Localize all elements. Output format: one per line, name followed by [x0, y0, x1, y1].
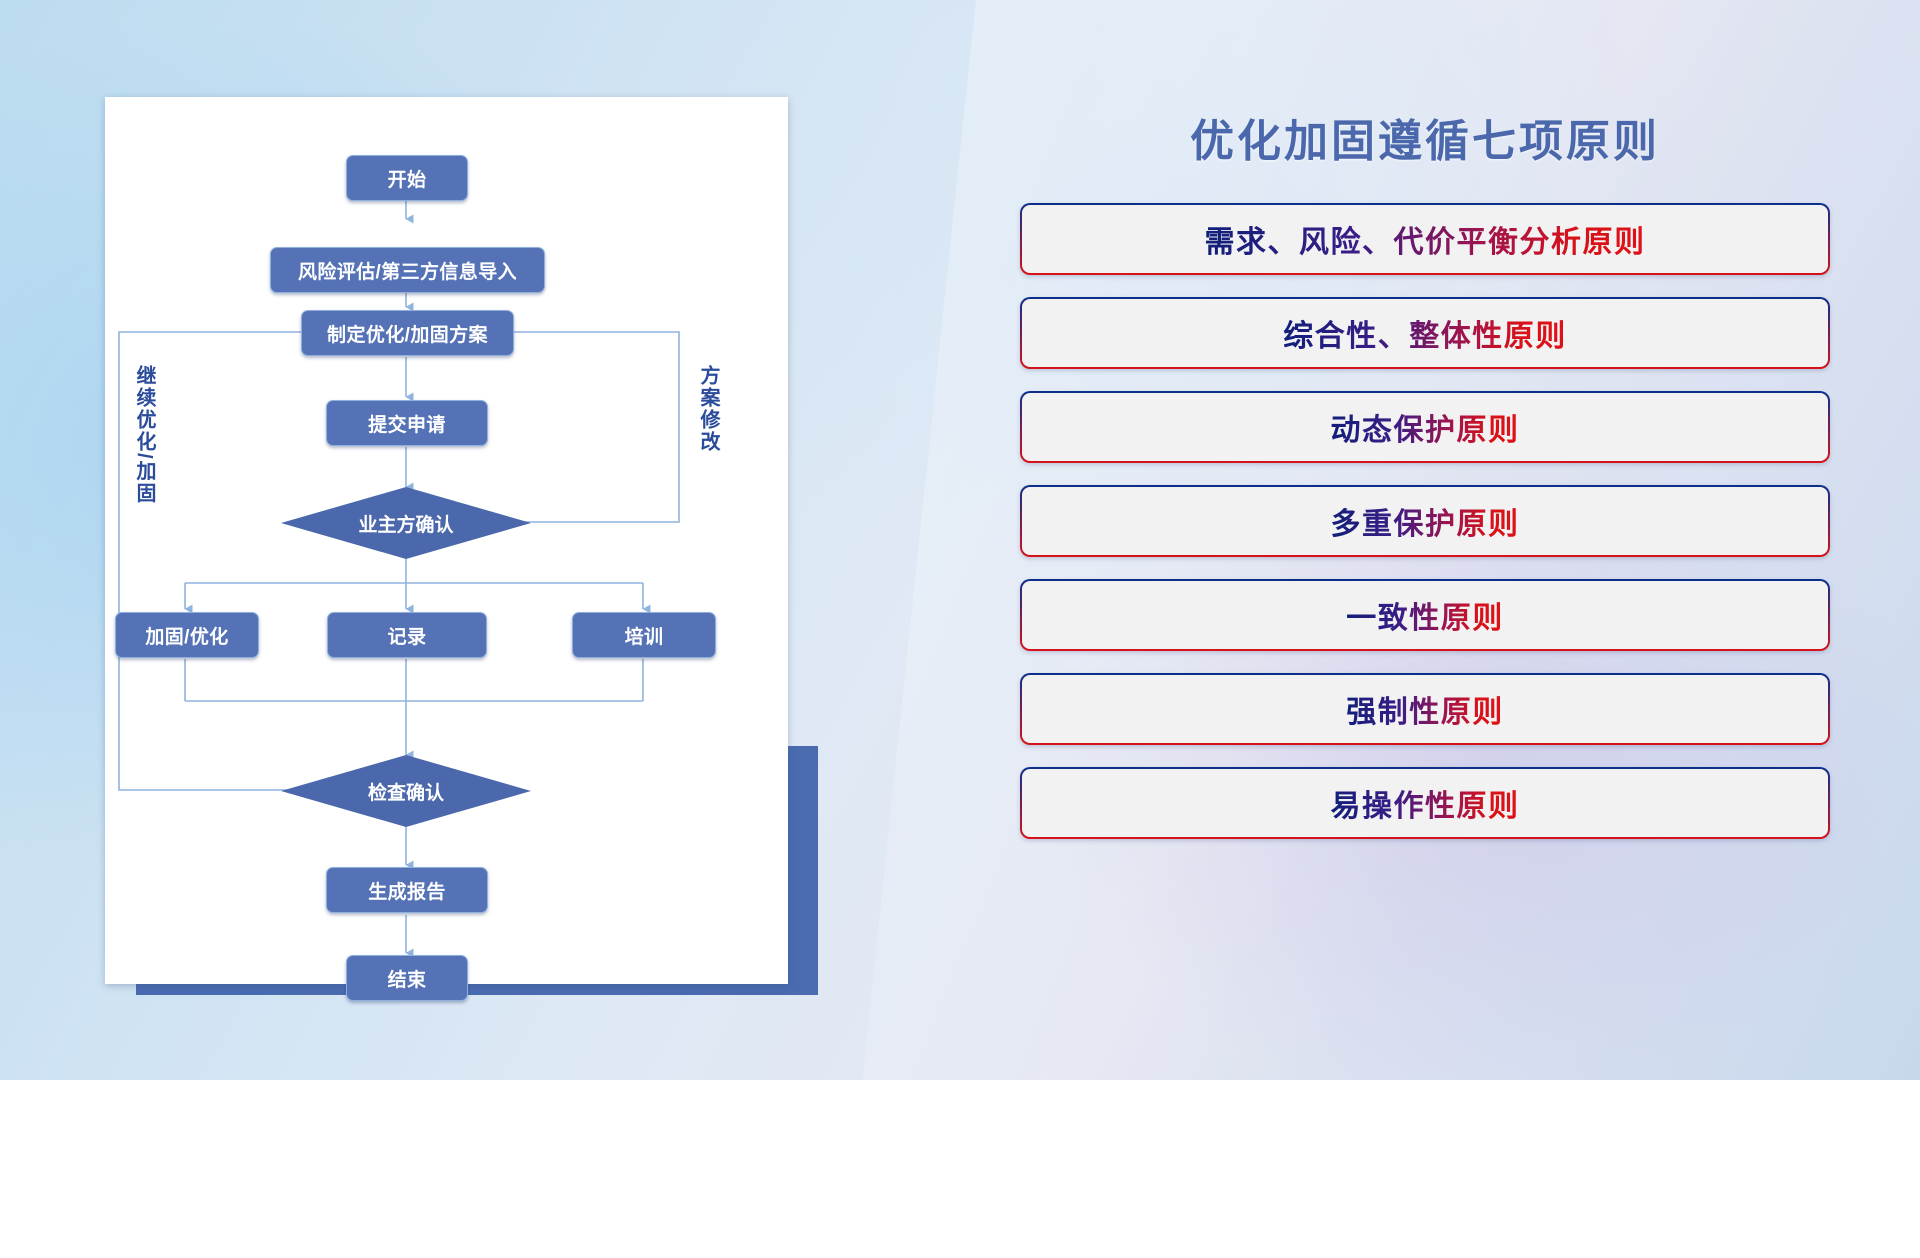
principle-card[interactable]: 需求、风险、代价平衡分析原则 [1020, 203, 1830, 275]
flow-node-submit-application[interactable]: 提交申请 [326, 400, 488, 446]
flow-node-label: 开始 [388, 165, 427, 192]
principle-card[interactable]: 综合性、整体性原则 [1020, 297, 1830, 369]
flow-node-record[interactable]: 记录 [327, 612, 487, 658]
principle-label: 易操作性原则 [1331, 781, 1520, 825]
flow-edge-label-plan-revision: 方案修改 [697, 365, 718, 453]
flowchart: 开始 风险评估/第三方信息导入 制定优化/加固方案 提交申请 业主方确认 加固/… [105, 97, 788, 984]
flow-node-plan[interactable]: 制定优化/加固方案 [301, 310, 514, 356]
principle-card-inner: 易操作性原则 [1022, 769, 1828, 837]
principle-card-inner: 动态保护原则 [1022, 393, 1828, 461]
flow-node-label: 检查确认 [368, 778, 444, 805]
principle-card-inner: 综合性、整体性原则 [1022, 299, 1828, 367]
flow-node-reinforce-optimize[interactable]: 加固/优化 [115, 612, 259, 658]
principles-list: 需求、风险、代价平衡分析原则 综合性、整体性原则 动态保护原则 多重保护原则 一… [1020, 203, 1830, 839]
principle-label: 强制性原则 [1346, 687, 1504, 731]
page-title: 优化加固遵循七项原则 [1020, 105, 1830, 169]
flow-node-label: 培训 [625, 622, 664, 649]
flow-node-training[interactable]: 培训 [572, 612, 716, 658]
principle-label: 多重保护原则 [1331, 499, 1520, 543]
flow-node-label: 结束 [388, 965, 427, 992]
flowchart-panel: 开始 风险评估/第三方信息导入 制定优化/加固方案 提交申请 业主方确认 加固/… [105, 97, 788, 984]
principle-card[interactable]: 强制性原则 [1020, 673, 1830, 745]
flow-node-label: 生成报告 [368, 877, 446, 904]
principle-label: 综合性、整体性原则 [1283, 311, 1567, 355]
principle-label: 一致性原则 [1346, 593, 1504, 637]
flow-edge-label-continue-optimize: 继续优化/加固 [133, 365, 154, 505]
principle-card[interactable]: 多重保护原则 [1020, 485, 1830, 557]
flow-node-label: 记录 [388, 622, 427, 649]
principle-label: 需求、风险、代价平衡分析原则 [1205, 217, 1646, 261]
flow-node-label: 风险评估/第三方信息导入 [298, 257, 517, 284]
principle-card-inner: 强制性原则 [1022, 675, 1828, 743]
principles-section: 优化加固遵循七项原则 需求、风险、代价平衡分析原则 综合性、整体性原则 动态保护… [1020, 105, 1830, 1005]
flow-node-label: 制定优化/加固方案 [327, 320, 488, 347]
principle-card-inner: 需求、风险、代价平衡分析原则 [1022, 205, 1828, 273]
principle-card[interactable]: 一致性原则 [1020, 579, 1830, 651]
principle-label: 动态保护原则 [1331, 405, 1520, 449]
flow-node-label: 加固/优化 [145, 622, 228, 649]
flow-node-label: 提交申请 [368, 410, 446, 437]
principle-card-inner: 多重保护原则 [1022, 487, 1828, 555]
flow-node-end[interactable]: 结束 [346, 955, 468, 1001]
flow-node-risk-assessment[interactable]: 风险评估/第三方信息导入 [270, 247, 545, 293]
flow-node-label: 业主方确认 [358, 510, 453, 537]
principle-card[interactable]: 动态保护原则 [1020, 391, 1830, 463]
flow-node-generate-report[interactable]: 生成报告 [326, 867, 488, 913]
principle-card[interactable]: 易操作性原则 [1020, 767, 1830, 839]
flow-node-start[interactable]: 开始 [346, 155, 468, 201]
principle-card-inner: 一致性原则 [1022, 581, 1828, 649]
